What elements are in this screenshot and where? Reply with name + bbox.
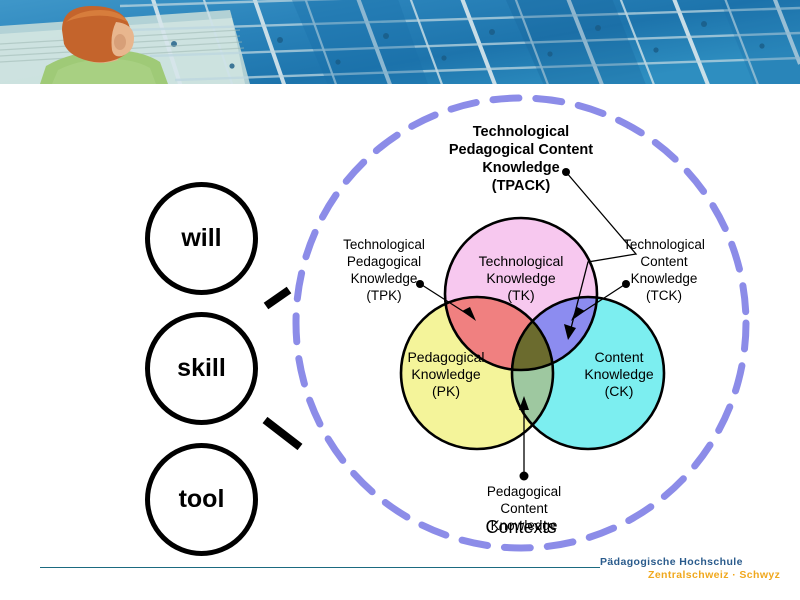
label-tck-line-4: (TCK) (646, 288, 682, 303)
institution-logo: Pädagogische Hochschule Zentralschweiz ·… (600, 556, 800, 596)
tpack-graphic: Technological Pedagogical Content Knowle… (276, 84, 776, 554)
label-contexts: Contexts (485, 517, 556, 537)
tpack-title-line-4: (TPACK) (492, 178, 551, 194)
tpack-title-line-2: Pedagogical Content (449, 142, 593, 158)
label-pck-line-1: Pedagogical (487, 484, 561, 499)
tpack-title-line-3: Knowledge (482, 160, 559, 176)
tpack-diagram: Technological Pedagogical Content Knowle… (276, 84, 776, 554)
tpack-title-line-1: Technological (473, 124, 569, 140)
label-ck-line-1: Content (594, 349, 643, 365)
logo-line-2: Zentralschweiz · Schwyz (648, 569, 800, 582)
label-ck-line-2: Knowledge (584, 366, 653, 382)
circle-will-label: will (181, 224, 221, 253)
circle-tool-label: tool (179, 485, 225, 514)
label-tpk-line-2: Pedagogical (347, 254, 421, 269)
label-tck: Technological Content Knowledge (TCK) (623, 237, 705, 303)
label-tk-line-3: (TK) (507, 287, 534, 303)
label-tpk-line-3: Knowledge (351, 271, 418, 286)
label-tck-line-2: Content (640, 254, 688, 269)
logo-line-1: Pädagogische Hochschule (600, 556, 800, 569)
label-pk-line-3: (PK) (432, 383, 460, 399)
circle-tool: tool (145, 443, 258, 556)
slide-canvas: will skill tool (0, 0, 800, 600)
label-tpk: Technological Pedagogical Knowledge (TPK… (343, 237, 425, 303)
label-tpk-line-4: (TPK) (366, 288, 401, 303)
header-photo-graphic (0, 0, 800, 84)
circle-skill: skill (145, 312, 258, 425)
label-pk-line-1: Pedagogical (407, 349, 484, 365)
label-tck-line-1: Technological (623, 237, 705, 252)
circle-skill-label: skill (177, 354, 226, 383)
label-pk-line-2: Knowledge (411, 366, 480, 382)
label-ck-line-3: (CK) (605, 383, 634, 399)
label-tk-line-2: Knowledge (486, 270, 555, 286)
footer-divider (40, 567, 600, 568)
label-tpk-line-1: Technological (343, 237, 425, 252)
label-pck-line-2: Content (500, 501, 548, 516)
tpack-title-block: Technological Pedagogical Content Knowle… (449, 124, 593, 194)
label-tk-line-1: Technological (479, 253, 564, 269)
label-tck-line-3: Knowledge (631, 271, 698, 286)
header-photo (0, 0, 800, 84)
circle-will: will (145, 182, 258, 295)
